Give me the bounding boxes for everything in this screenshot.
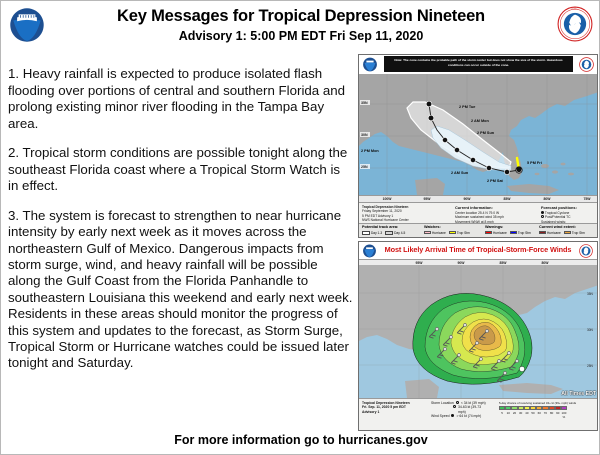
- arrival-map-title: Most Likely Arrival Time of Tropical-Sto…: [381, 245, 575, 254]
- svg-text:35N: 35N: [587, 292, 594, 296]
- warning-tropstorm-swatch: [510, 231, 517, 235]
- svg-text:2 PM Tue: 2 PM Tue: [459, 105, 475, 109]
- svg-text:N H C: N H C: [572, 8, 579, 11]
- arrival-storm-identity: Tropical Depression Nineteen Fri. Sep. 1…: [362, 401, 424, 414]
- open-circle-icon: [541, 215, 544, 218]
- noaa-logo-icon: [8, 6, 46, 44]
- key-message-2: 2. Tropical storm conditions are possibl…: [8, 145, 353, 194]
- cone-legend-panel: Potential track area: Day 1-3 Day 4-5 Wa…: [359, 223, 598, 237]
- watch-tropstorm-swatch: [449, 231, 456, 235]
- arrival-map-canvas[interactable]: 35N 30N 25N All Times EDT: [359, 265, 598, 398]
- footer-info: For more information go to hurricanes.go…: [1, 433, 600, 447]
- warning-hurricane-swatch: [485, 231, 492, 235]
- svg-text:35N: 35N: [361, 101, 368, 105]
- storm-location-label: Storm Location: [431, 401, 454, 405]
- svg-text:2 PM Mon: 2 PM Mon: [361, 149, 379, 153]
- header: Key Messages for Tropical Depression Nin…: [1, 1, 600, 51]
- forecast-cone-map[interactable]: Note: The cone contains the probable pat…: [358, 54, 598, 238]
- extent-tropstorm-swatch: [564, 231, 571, 235]
- forecast-positions-heading: Forecast positions:: [541, 205, 597, 210]
- storm-identity-block: Tropical Depression Nineteen Friday Sept…: [362, 205, 446, 222]
- svg-text:30N: 30N: [587, 328, 594, 332]
- nhc-mini-logo-icon: [579, 57, 594, 72]
- key-messages-list: 1. Heavy rainfall is expected to produce…: [8, 53, 353, 423]
- storm-agency: NWS National Hurricane Center: [362, 218, 446, 222]
- svg-text:25N: 25N: [587, 364, 594, 368]
- scale-swatch: [561, 406, 567, 410]
- svg-text:2 AM Mon: 2 AM Mon: [471, 119, 489, 123]
- nhc-logo-icon: N H C: [557, 6, 593, 42]
- svg-text:2 AM Sun: 2 AM Sun: [451, 171, 469, 175]
- wind-arrival-time-map[interactable]: Most Likely Arrival Time of Tropical-Sto…: [358, 241, 598, 431]
- current-information-block: Current information: Center location 25.…: [455, 205, 537, 224]
- title-block: Key Messages for Tropical Depression Nin…: [61, 6, 541, 44]
- key-message-1: 1. Heavy rainfall is expected to produce…: [8, 66, 353, 132]
- filled-circle-icon: [541, 211, 544, 214]
- watch-hurricane-swatch: [424, 231, 431, 235]
- advisory-subtitle: Advisory 1: 5:00 PM EDT Fri Sep 11, 2020: [61, 29, 541, 44]
- svg-text:5 PM Fri: 5 PM Fri: [527, 161, 542, 165]
- noaa-mini-logo-icon: [362, 244, 378, 259]
- noaa-mini-logo-icon: [362, 57, 378, 72]
- open-circle-icon: [456, 401, 459, 404]
- speed-h: > 64 kt (74 mph): [456, 414, 481, 418]
- extent-hurricane-swatch: [539, 231, 546, 235]
- scale-num: 100 %: [561, 411, 567, 419]
- wind-extent-legend: Current wind extent: Hurricane Trop Stm: [539, 225, 585, 235]
- svg-text:25N: 25N: [361, 165, 368, 169]
- cone-disclaimer-note: Note: The cone contains the probable pat…: [384, 56, 573, 72]
- arrival-symbol-legend: Storm Location < 34 kt (39 mph) 34-63 kt…: [431, 401, 489, 418]
- potential-track-legend: Potential track area: Day 1-3 Day 4-5: [362, 225, 405, 235]
- speed-s: 34-63 kt (39-73 mph): [458, 405, 489, 414]
- arrival-info-panel: Tropical Depression Nineteen Fri. Sep. 1…: [359, 398, 598, 430]
- watches-legend: Watches: Hurricane Trop Stm: [424, 225, 470, 235]
- svg-text:2 PM Sun: 2 PM Sun: [477, 131, 495, 135]
- arrival-map-header: Most Likely Arrival Time of Tropical-Sto…: [359, 242, 597, 259]
- cone-longitude-axis: 100W 95W 90W 85W 80W 75W: [359, 195, 598, 202]
- probability-scale-block: 5-day chance of receiving sustained 34+ …: [499, 401, 597, 419]
- nhc-mini-logo-icon: [579, 244, 594, 259]
- page-title: Key Messages for Tropical Depression Nin…: [61, 6, 541, 26]
- key-message-3: 3. The system is forecast to strengthen …: [8, 208, 353, 372]
- svg-text:30N: 30N: [361, 133, 368, 137]
- current-information-heading: Current information:: [455, 205, 537, 210]
- svg-text:2 PM Sat: 2 PM Sat: [487, 179, 504, 183]
- warnings-legend: Warnings: Hurricane Trop Stm: [485, 225, 531, 235]
- probability-color-scale: [499, 406, 597, 410]
- cone-map-canvas[interactable]: 35N 30N 25N 5 PM Fri 2 PM Sat 2 AM Sun 2…: [359, 74, 598, 195]
- track-day13-icon: [362, 231, 370, 235]
- cone-map-header: Note: The cone contains the probable pat…: [359, 55, 597, 74]
- wind-speed-label: Wind Speed: [431, 414, 449, 418]
- graphic-root: Key Messages for Tropical Depression Nin…: [0, 0, 600, 455]
- scale-caption: 5-day chance of receiving sustained 34+ …: [499, 401, 597, 405]
- storm-location-marker: [519, 366, 524, 371]
- filled-circle-icon: [451, 414, 454, 417]
- arr-storm-advisory: Advisory 1: [362, 410, 424, 414]
- open-circle-icon: [453, 405, 456, 408]
- track-day45-icon: [385, 231, 393, 235]
- probability-scale-labels: 5 10 20 30 40 50 60 70 80 90 100 %: [499, 411, 597, 419]
- all-times-label: All Times EDT: [561, 391, 596, 397]
